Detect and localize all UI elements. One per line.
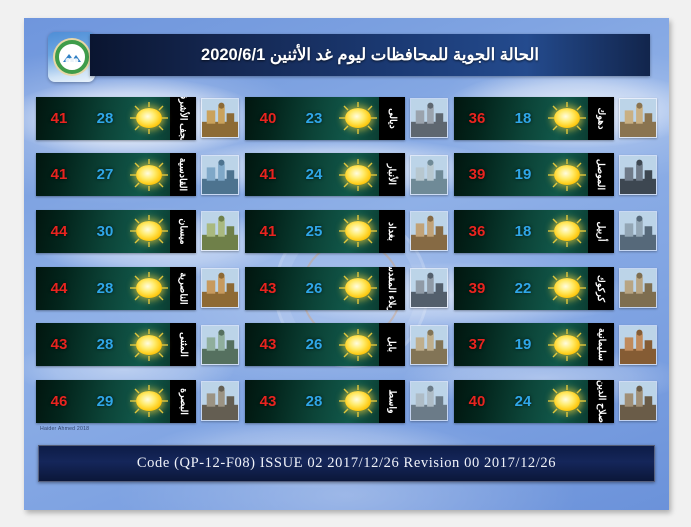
temperature-max: 39 [454,280,500,297]
city-forecast-card[interactable]: 4328واسط [245,380,405,423]
city-forecast-card[interactable]: 3719سليمانية [454,323,614,366]
forecast-cell: 4124الأنبار [245,147,448,204]
landmark-fortress-icon [410,155,448,195]
weather-poster: الحالة الجوية للمحافظات ليوم غد الأثنين … [24,18,669,510]
temperature-max: 43 [245,393,291,410]
temperature-max: 39 [454,166,500,183]
sun-disc [554,335,580,355]
sun-disc [345,165,371,185]
city-name-tab: النجف الأشرف [170,97,196,140]
city-name-tab: سليمانية [588,323,614,366]
city-forecast-card[interactable]: 4428الناصرية [36,267,196,310]
temperature-min: 27 [82,166,128,183]
landmark-monument-icon [201,155,239,195]
city-name-tab: أربيل [588,210,614,253]
city-name: الأنبار [387,164,398,185]
sun-icon [134,277,164,299]
forecast-cell: 4326كربلاء المقدسة [245,260,448,317]
landmark-castle-icon [619,268,657,308]
condition-icon-wrap [546,107,588,129]
temperature-max: 44 [36,223,82,240]
page-background: الحالة الجوية للمحافظات ليوم غد الأثنين … [0,0,691,527]
sun-icon [134,220,164,242]
sun-icon [552,107,582,129]
organization-logo [48,32,95,82]
city-name: النجف الأشرف [178,97,189,140]
temperature-max: 44 [36,280,82,297]
temperature-min: 19 [500,166,546,183]
temperature-min: 28 [82,336,128,353]
condition-icon-wrap [128,390,170,412]
landmark-gate-icon [410,381,448,421]
city-name: واسط [387,389,398,413]
header-bar: الحالة الجوية للمحافظات ليوم غد الأثنين … [90,34,650,76]
city-name: كركوك [596,275,607,302]
sun-disc [136,165,162,185]
condition-icon-wrap [337,107,379,129]
temperature-min: 18 [500,223,546,240]
sun-disc [345,335,371,355]
temperature-min: 24 [500,393,546,410]
forecast-cell: 3919الموصل [454,147,657,204]
city-name-tab: كربلاء المقدسة [379,267,405,310]
city-name: المثنى [178,332,189,357]
city-forecast-card[interactable]: 4024صلاح الدين [454,380,614,423]
city-forecast-card[interactable]: 3618دهوك [454,97,614,140]
temperature-min: 25 [291,223,337,240]
forecast-cell: 3618دهوك [454,90,657,147]
city-name-tab: صلاح الدين [588,380,614,423]
city-name: بابل [386,337,397,352]
city-name-tab: البصرة [170,380,196,423]
sun-disc [136,335,162,355]
sun-icon [343,220,373,242]
condition-icon-wrap [128,334,170,356]
footer-bar: Code (QP-12-F08) ISSUE 02 2017/12/26 Rev… [38,445,655,482]
city-name-tab: بغداد [379,210,405,253]
condition-icon-wrap [546,334,588,356]
city-forecast-card[interactable]: 4023ديالى [245,97,405,140]
forecast-cell: 4430ميسان [36,203,239,260]
landmark-obelisk-icon [619,325,657,365]
forecast-cell: 4328واسط [245,373,448,430]
city-name-tab: القادسية [170,153,196,196]
city-forecast-card[interactable]: 4128النجف الأشرف [36,97,196,140]
city-name: الموصل [596,159,607,190]
city-name-tab: دهوك [588,97,614,140]
condition-icon-wrap [546,277,588,299]
condition-icon-wrap [337,390,379,412]
temperature-max: 41 [36,166,82,183]
temperature-min: 28 [82,280,128,297]
landmark-citadel-icon [619,211,657,251]
landmark-flag-statue-icon [619,381,657,421]
landmark-river-icon [201,268,239,308]
city-name-tab: المثنى [170,323,196,366]
temperature-max: 43 [245,280,291,297]
landmark-ruins-icon [410,98,448,138]
temperature-min: 26 [291,280,337,297]
temperature-min: 30 [82,223,128,240]
city-name: ميسان [178,218,189,244]
sun-icon [552,390,582,412]
temperature-max: 36 [454,223,500,240]
city-name: بغداد [387,222,398,241]
city-name: البصرة [178,388,189,415]
sun-icon [343,390,373,412]
landmark-statue-icon [201,381,239,421]
city-name-tab: الأنبار [379,153,405,196]
condition-icon-wrap [546,220,588,242]
temperature-min: 28 [291,393,337,410]
sun-icon [134,164,164,186]
sun-disc [345,278,371,298]
temperature-max: 41 [36,110,82,127]
forecast-grid: 4128النجف الأشرف4023ديالى3618دهوك4127الق… [36,90,657,430]
city-name-tab: ميسان [170,210,196,253]
landmark-bridge-icon [619,98,657,138]
condition-icon-wrap [546,390,588,412]
city-forecast-card[interactable]: 4125بغداد [245,210,405,253]
forecast-cell: 3922كركوك [454,260,657,317]
condition-icon-wrap [128,164,170,186]
city-name-tab: واسط [379,380,405,423]
city-forecast-card[interactable]: 4326بابل [245,323,405,366]
sun-icon [343,334,373,356]
page-title: الحالة الجوية للمحافظات ليوم غد الأثنين … [201,45,539,65]
weather-authority-logo-icon [55,40,89,74]
condition-icon-wrap [128,220,170,242]
sun-icon [343,107,373,129]
temperature-min: 28 [82,110,128,127]
sun-icon [343,277,373,299]
city-forecast-card[interactable]: 3922كركوك [454,267,614,310]
condition-icon-wrap [128,277,170,299]
sun-icon [343,164,373,186]
landmark-shrine-icon [201,98,239,138]
author-credit: Haider Ahmed 2018 [40,426,89,432]
sun-icon [552,164,582,186]
temperature-max: 40 [245,110,291,127]
temperature-min: 24 [291,166,337,183]
sun-icon [552,334,582,356]
temperature-min: 23 [291,110,337,127]
forecast-cell: 4326بابل [245,316,448,373]
temperature-max: 43 [36,336,82,353]
temperature-max: 40 [454,393,500,410]
sun-icon [134,334,164,356]
condition-icon-wrap [128,107,170,129]
city-forecast-card[interactable]: 4326كربلاء المقدسة [245,267,405,310]
landmark-minaret-icon [619,155,657,195]
temperature-max: 43 [245,336,291,353]
condition-icon-wrap [337,164,379,186]
city-forecast-card[interactable]: 4629البصرة [36,380,196,423]
forecast-cell: 3719سليمانية [454,316,657,373]
city-forecast-card[interactable]: 4430ميسان [36,210,196,253]
city-forecast-card[interactable]: 4328المثنى [36,323,196,366]
forecast-cell: 4328المثنى [36,316,239,373]
sun-icon [552,277,582,299]
city-name: كربلاء المقدسة [387,267,398,310]
forecast-cell: 3618أربيل [454,203,657,260]
temperature-max: 41 [245,166,291,183]
sun-disc [554,165,580,185]
city-name-tab: الموصل [588,153,614,196]
condition-icon-wrap [546,164,588,186]
city-name: القادسية [178,158,189,191]
forecast-cell: 4428الناصرية [36,260,239,317]
landmark-building-icon [410,211,448,251]
condition-icon-wrap [337,220,379,242]
city-forecast-card[interactable]: 4127القادسية [36,153,196,196]
landmark-arch-icon [201,325,239,365]
document-code-text: Code (QP-12-F08) ISSUE 02 2017/12/26 Rev… [137,455,556,472]
landmark-mosque-icon [410,268,448,308]
city-forecast-card[interactable]: 3919الموصل [454,153,614,196]
temperature-min: 26 [291,336,337,353]
city-name: أربيل [596,222,607,242]
temperature-max: 37 [454,336,500,353]
condition-icon-wrap [337,334,379,356]
sun-disc [554,278,580,298]
temperature-max: 41 [245,223,291,240]
temperature-max: 36 [454,110,500,127]
temperature-min: 18 [500,110,546,127]
forecast-cell: 4127القادسية [36,147,239,204]
city-name: صلاح الدين [596,380,607,423]
landmark-towers-icon [410,325,448,365]
city-name-tab: بابل [379,323,405,366]
temperature-min: 19 [500,336,546,353]
sun-icon [134,107,164,129]
city-name-tab: ديالى [379,97,405,140]
city-forecast-card[interactable]: 4124الأنبار [245,153,405,196]
forecast-cell: 4128النجف الأشرف [36,90,239,147]
forecast-cell: 4125بغداد [245,203,448,260]
forecast-cell: 4024صلاح الدين [454,373,657,430]
temperature-min: 22 [500,280,546,297]
sun-icon [134,390,164,412]
city-name-tab: الناصرية [170,267,196,310]
condition-icon-wrap [337,277,379,299]
sun-disc [136,278,162,298]
city-name: دهوك [595,107,606,129]
city-forecast-card[interactable]: 3618أربيل [454,210,614,253]
forecast-cell: 4023ديالى [245,90,448,147]
landmark-tower-icon [201,211,239,251]
temperature-max: 46 [36,393,82,410]
forecast-cell: 4629البصرة [36,373,239,430]
city-name: ديالى [387,108,398,129]
temperature-min: 29 [82,393,128,410]
city-name: الناصرية [178,272,189,304]
city-name-tab: كركوك [588,267,614,310]
city-name: سليمانية [596,328,607,361]
sun-icon [552,220,582,242]
